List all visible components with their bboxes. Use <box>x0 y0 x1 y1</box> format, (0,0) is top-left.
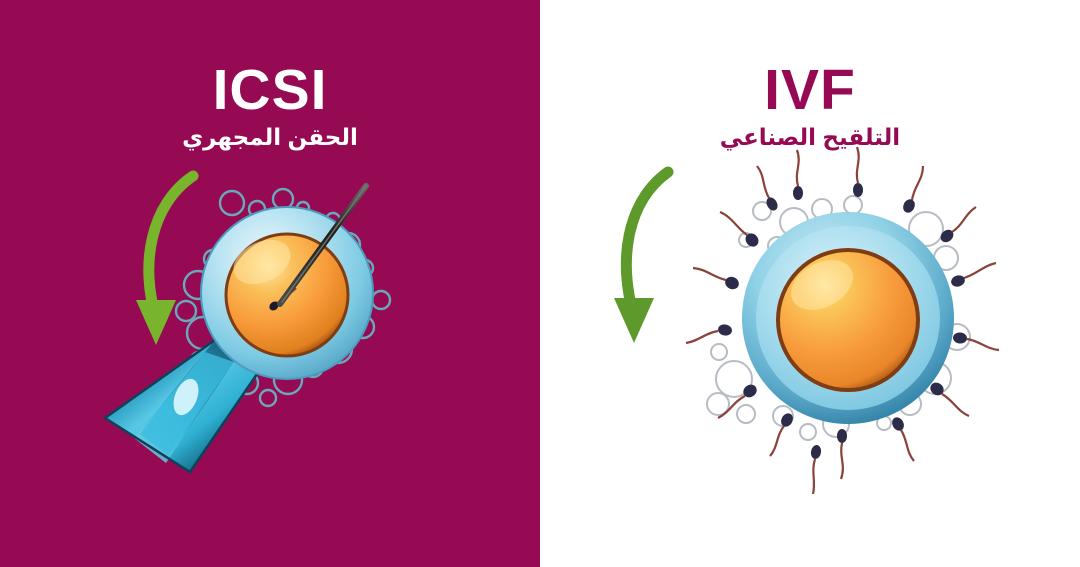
ivf-egg-cell <box>742 212 954 424</box>
ivf-green-arrow <box>614 172 668 343</box>
sperm-cell <box>890 415 914 461</box>
sperm-cell <box>901 166 923 215</box>
panel-ivf: IVF التلقيح الصناعي <box>540 0 1080 567</box>
panel-icsi: ICSI الحقن المجهري <box>0 0 540 567</box>
sperm-cell <box>686 323 733 343</box>
sperm-cell <box>693 268 741 291</box>
sperm-cell <box>757 166 780 213</box>
sperm-cell <box>853 147 863 197</box>
sperm-cell <box>837 429 847 479</box>
sperm-cell <box>718 382 759 418</box>
comparison-graphic: ICSI الحقن المجهري <box>0 0 1080 567</box>
sperm-cell <box>952 332 999 350</box>
sperm-cell <box>793 150 803 200</box>
sperm-cell <box>950 263 996 288</box>
ivf-illustration <box>540 0 1080 567</box>
sperm-cell <box>810 444 822 494</box>
icsi-illustration <box>0 0 540 567</box>
sperm-cell <box>938 207 976 245</box>
icsi-green-arrow <box>136 176 193 345</box>
